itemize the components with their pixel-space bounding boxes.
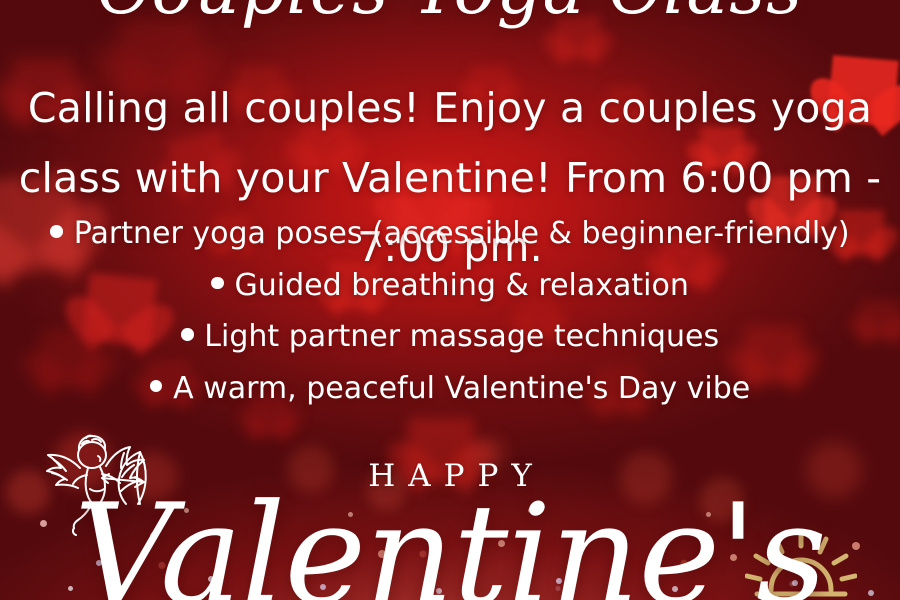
list-item-label: Guided breathing & relaxation xyxy=(235,268,689,303)
list-item-label: Light partner massage techniques xyxy=(204,319,719,354)
bullet-dot-icon xyxy=(150,380,163,393)
list-item-label: A warm, peaceful Valentine's Day vibe xyxy=(173,371,750,406)
list-item: A warm, peaceful Valentine's Day vibe xyxy=(0,363,900,415)
bullet-dot-icon xyxy=(181,328,194,341)
list-item: Guided breathing & relaxation xyxy=(0,260,900,312)
list-item: Light partner massage techniques xyxy=(0,311,900,363)
bullet-dot-icon xyxy=(50,225,63,238)
greeting-valentines: Valentine's xyxy=(0,486,900,600)
feature-list: Partner yoga poses (accessible & beginne… xyxy=(0,208,900,414)
page-title: Couples Yoga Class xyxy=(0,0,900,24)
bullet-dot-icon xyxy=(211,277,224,290)
list-item: Partner yoga poses (accessible & beginne… xyxy=(0,208,900,260)
list-item-label: Partner yoga poses (accessible & beginne… xyxy=(74,216,850,251)
valentines-flyer: Couples Yoga Class Calling all couples! … xyxy=(0,0,900,600)
